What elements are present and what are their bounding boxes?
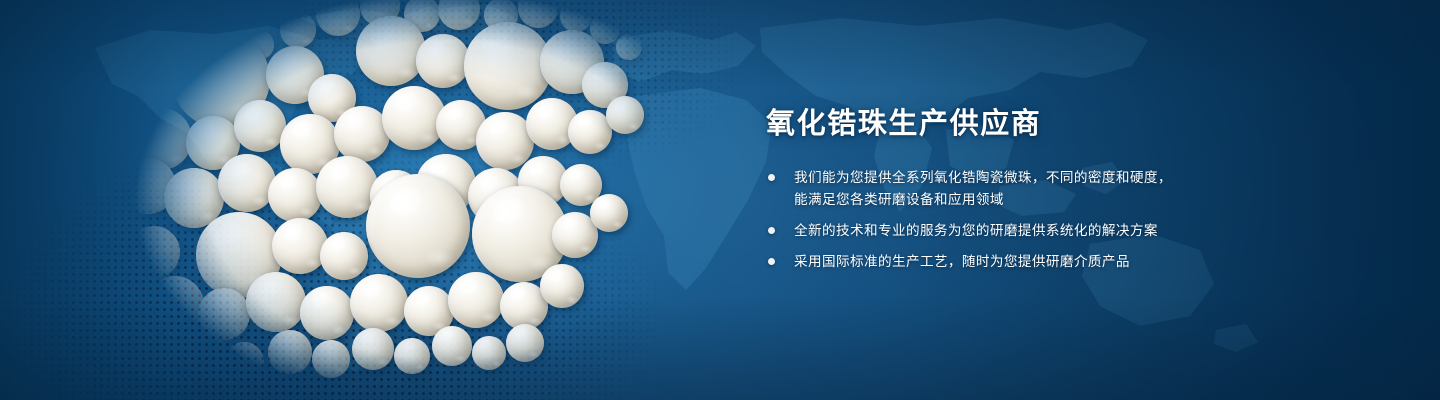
banner-bullet-item: 采用国际标准的生产工艺，随时为您提供研磨介质产品 — [766, 251, 1236, 273]
hero-banner: 氧化锆珠生产供应商 我们能为您提供全系列氧化锆陶瓷微珠，不同的密度和硬度， 能满… — [0, 0, 1440, 400]
bullet-text-line1: 采用国际标准的生产工艺，随时为您提供研磨介质产品 — [794, 254, 1130, 269]
dot-bullet-icon — [768, 258, 775, 265]
bullet-text-line1: 我们能为您提供全系列氧化锆陶瓷微珠，不同的密度和硬度， — [794, 170, 1172, 185]
banner-bullet-item: 全新的技术和专业的服务为您的研磨提供系统化的解决方案 — [766, 220, 1236, 242]
zirconia-beads-photo — [120, 0, 770, 400]
bullet-text-line1: 全新的技术和专业的服务为您的研磨提供系统化的解决方案 — [794, 223, 1158, 238]
dot-bullet-icon — [768, 174, 775, 181]
banner-content: 氧化锆珠生产供应商 我们能为您提供全系列氧化锆陶瓷微珠，不同的密度和硬度， 能满… — [766, 108, 1236, 282]
banner-bullet-list: 我们能为您提供全系列氧化锆陶瓷微珠，不同的密度和硬度， 能满足您各类研磨设备和应… — [766, 167, 1236, 273]
dot-bullet-icon — [768, 227, 775, 234]
banner-bullet-item: 我们能为您提供全系列氧化锆陶瓷微珠，不同的密度和硬度， 能满足您各类研磨设备和应… — [766, 167, 1236, 211]
bullet-text-line2: 能满足您各类研磨设备和应用领域 — [794, 189, 1236, 211]
banner-title: 氧化锆珠生产供应商 — [766, 108, 1236, 141]
